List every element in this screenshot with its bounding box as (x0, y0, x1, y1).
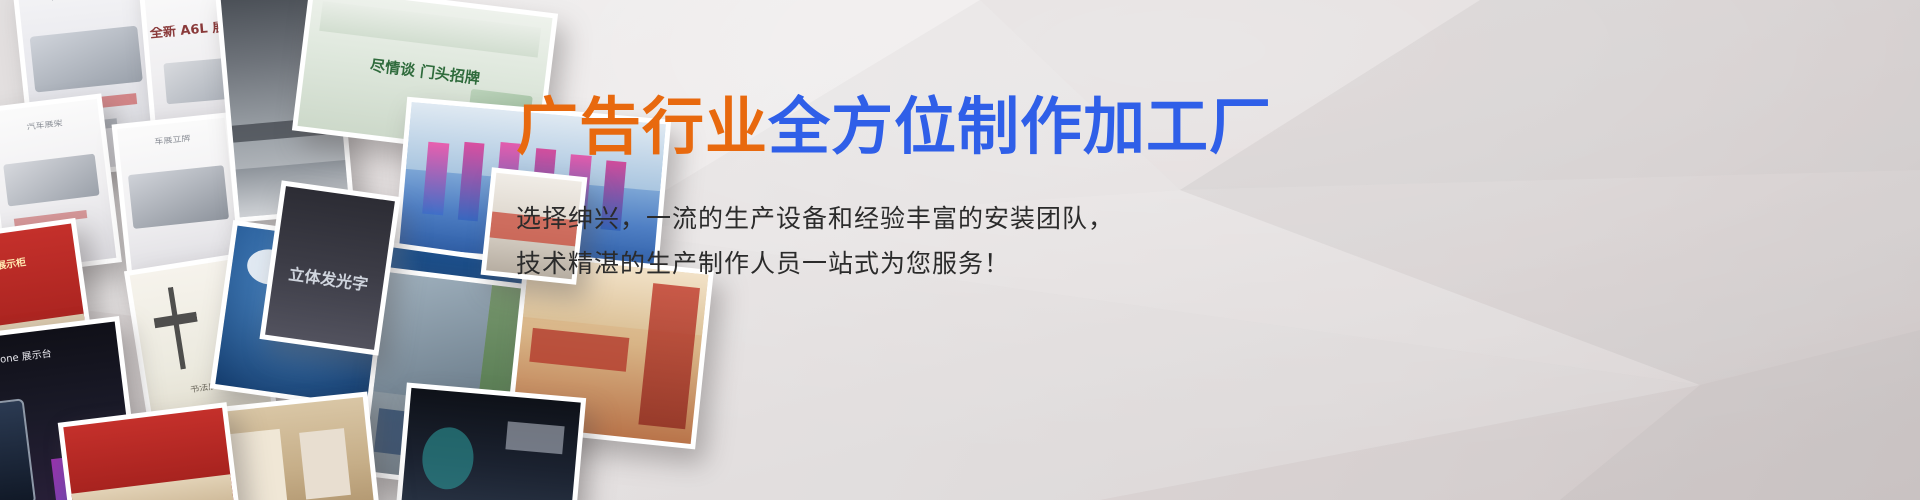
photo-collage: A6L 轿车海报 全新 A6L 展示板 汽车展架 车展立牌 (0, 0, 530, 500)
headline-segment-orange: 广告行业 (516, 90, 768, 163)
hero-headline: 广告行业全方位制作加工厂 (516, 92, 1416, 162)
hero-text-block: 广告行业全方位制作加工厂 选择绅兴，一流的生产设备和经验丰富的安装团队， 技术精… (516, 92, 1416, 286)
subtitle-line-1: 选择绅兴，一流的生产设备和经验丰富的安装团队， (516, 196, 1416, 241)
photo-night-booth (394, 382, 586, 500)
photo-caption: iPhone 展示台 (0, 340, 118, 375)
headline-segment-blue: 全方位制作加工厂 (768, 90, 1272, 163)
advertising-hero-banner: A6L 轿车海报 全新 A6L 展示板 汽车展架 车展立牌 (0, 0, 1920, 500)
photo-caption: A6L 轿车海报 (18, 0, 140, 8)
photo-caption: 尽情谈 门头招牌 (305, 49, 545, 95)
photo-caption: 红色展示柜 (0, 250, 76, 282)
hero-subtitle: 选择绅兴，一流的生产设备和经验丰富的安装团队， 技术精湛的生产制作人员一站式为您… (516, 196, 1416, 286)
photo-caption: 车展立牌 (118, 130, 226, 151)
subtitle-line-2: 技术精湛的生产制作人员一站式为您服务！ (516, 241, 1416, 286)
photo-ign-letters: 立体发光字 (259, 180, 400, 355)
photo-caption: 汽车展架 (0, 115, 100, 138)
photo-caption: 立体发光字 (273, 263, 384, 296)
